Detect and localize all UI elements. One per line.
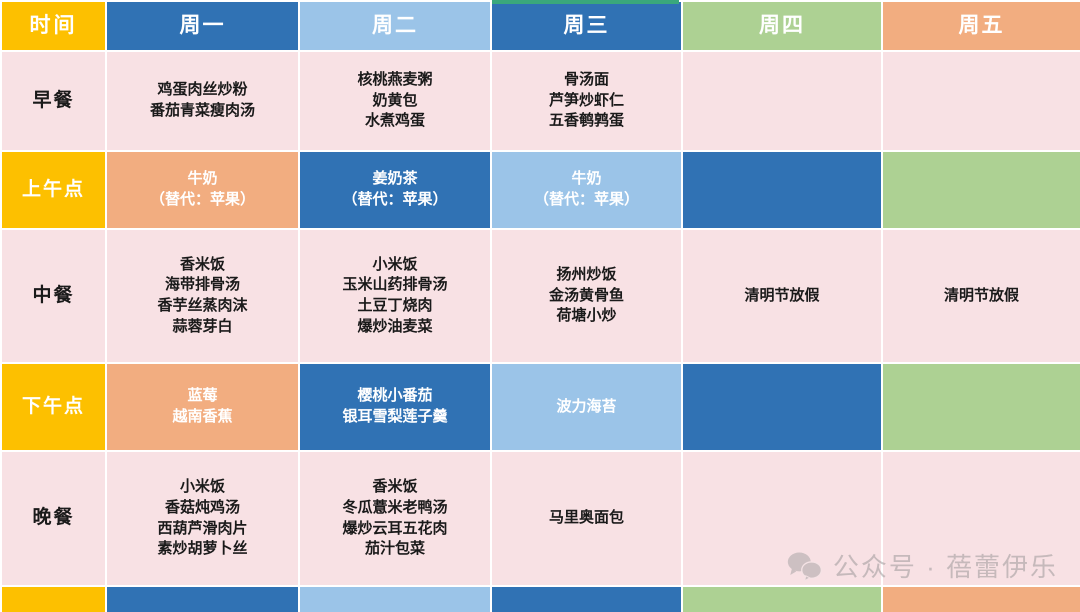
row-morning-snack: 上午点 牛奶（替代：苹果） 姜奶茶（替代：苹果） 牛奶（替代：苹果）	[1, 151, 1080, 229]
cell-morning-snack-thursday	[682, 151, 882, 229]
header-day-friday: 周五	[882, 1, 1080, 51]
header-day-thursday: 周四	[682, 1, 882, 51]
footer-cell-tuesday	[299, 586, 491, 612]
cell-breakfast-tuesday: 核桃燕麦粥奶黄包水煮鸡蛋	[299, 51, 491, 151]
cell-dinner-thursday	[682, 451, 882, 586]
cell-breakfast-wednesday: 骨汤面芦笋炒虾仁五香鹌鹑蛋	[491, 51, 682, 151]
footer-cell-monday	[106, 586, 299, 612]
cell-afternoon-snack-tuesday: 樱桃小番茄银耳雪梨莲子羹	[299, 363, 491, 451]
cell-afternoon-snack-thursday	[682, 363, 882, 451]
weekly-menu-table: 时间 周一 周二 周三 周四 周五 早餐 鸡蛋肉丝炒粉番茄青菜瘦肉汤 核桃燕麦粥…	[0, 0, 1080, 612]
row-label-lunch: 中餐	[1, 229, 106, 363]
cell-morning-snack-friday	[882, 151, 1080, 229]
footer-cell-wednesday	[491, 586, 682, 612]
row-dinner: 晚餐 小米饭香菇炖鸡汤西葫芦滑肉片素炒胡萝卜丝 香米饭冬瓜薏米老鸭汤爆炒云耳五花…	[1, 451, 1080, 586]
row-label-breakfast: 早餐	[1, 51, 106, 151]
row-label-dinner: 晚餐	[1, 451, 106, 586]
cell-morning-snack-wednesday: 牛奶（替代：苹果）	[491, 151, 682, 229]
cell-dinner-monday: 小米饭香菇炖鸡汤西葫芦滑肉片素炒胡萝卜丝	[106, 451, 299, 586]
cell-breakfast-friday	[882, 51, 1080, 151]
cell-breakfast-monday: 鸡蛋肉丝炒粉番茄青菜瘦肉汤	[106, 51, 299, 151]
cell-lunch-tuesday: 小米饭玉米山药排骨汤土豆丁烧肉爆炒油麦菜	[299, 229, 491, 363]
row-label-afternoon-snack: 下午点	[1, 363, 106, 451]
cell-afternoon-snack-wednesday: 波力海苔	[491, 363, 682, 451]
menu-sheet: 时间 周一 周二 周三 周四 周五 早餐 鸡蛋肉丝炒粉番茄青菜瘦肉汤 核桃燕麦粥…	[0, 0, 1080, 612]
cell-dinner-friday	[882, 451, 1080, 586]
cell-breakfast-thursday	[682, 51, 882, 151]
cell-morning-snack-monday: 牛奶（替代：苹果）	[106, 151, 299, 229]
cell-lunch-thursday: 清明节放假	[682, 229, 882, 363]
row-label-morning-snack: 上午点	[1, 151, 106, 229]
cell-lunch-friday: 清明节放假	[882, 229, 1080, 363]
row-breakfast: 早餐 鸡蛋肉丝炒粉番茄青菜瘦肉汤 核桃燕麦粥奶黄包水煮鸡蛋 骨汤面芦笋炒虾仁五香…	[1, 51, 1080, 151]
table-header-row: 时间 周一 周二 周三 周四 周五	[1, 1, 1080, 51]
cell-afternoon-snack-monday: 蓝莓越南香蕉	[106, 363, 299, 451]
header-day-tuesday: 周二	[299, 1, 491, 51]
cell-dinner-wednesday: 马里奥面包	[491, 451, 682, 586]
cell-morning-snack-tuesday: 姜奶茶（替代：苹果）	[299, 151, 491, 229]
cell-lunch-monday: 香米饭海带排骨汤香芋丝蒸肉沫蒜蓉芽白	[106, 229, 299, 363]
table-footer-strip	[1, 586, 1080, 612]
footer-cell-friday	[882, 586, 1080, 612]
header-day-monday: 周一	[106, 1, 299, 51]
cell-dinner-tuesday: 香米饭冬瓜薏米老鸭汤爆炒云耳五花肉茄汁包菜	[299, 451, 491, 586]
footer-cell-thursday	[682, 586, 882, 612]
row-lunch: 中餐 香米饭海带排骨汤香芋丝蒸肉沫蒜蓉芽白 小米饭玉米山药排骨汤土豆丁烧肉爆炒油…	[1, 229, 1080, 363]
wednesday-accent-bar	[492, 0, 679, 4]
footer-cell-time	[1, 586, 106, 612]
row-afternoon-snack: 下午点 蓝莓越南香蕉 樱桃小番茄银耳雪梨莲子羹 波力海苔	[1, 363, 1080, 451]
cell-afternoon-snack-friday	[882, 363, 1080, 451]
cell-lunch-wednesday: 扬州炒饭金汤黄骨鱼荷塘小炒	[491, 229, 682, 363]
header-time: 时间	[1, 1, 106, 51]
header-day-wednesday: 周三	[491, 1, 682, 51]
